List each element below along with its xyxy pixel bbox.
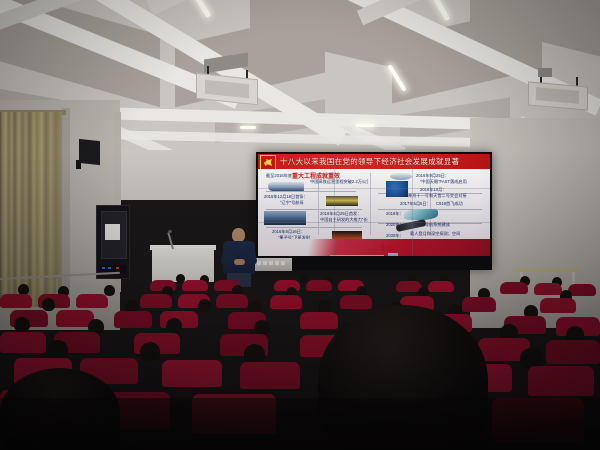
slide-entry-text: C919首飞成功: [436, 201, 463, 206]
auditorium-seat: [306, 280, 332, 291]
wall-speaker: [79, 139, 100, 165]
slide-entry-date: 2015年12月18日首条：: [264, 194, 308, 199]
auditorium-seat: [540, 298, 576, 313]
slide-entry-text: “辽宁”号航母: [280, 200, 304, 205]
slide-thumbnail-aircraft: [404, 209, 438, 220]
auditorium-seat: [0, 294, 32, 308]
ceiling-light: [187, 0, 211, 18]
audience-head: [254, 320, 270, 335]
auditorium-seat: [546, 340, 600, 364]
auditorium-seat: [534, 283, 562, 295]
auditorium-photo: 十八大以来我国在党的领导下经济社会发展成就显著 重大工程成就重效 截至2016年…: [0, 0, 600, 450]
ceiling-light: [426, 0, 450, 21]
communist-party-emblem-icon: [260, 155, 276, 170]
slide-body: 重大工程成就重效 截至2016年底： 中国高铁运营里程突破2.2万公里，占世界高…: [258, 169, 490, 256]
slide-entry-text: “中国天眼”FAST落成启用: [420, 179, 467, 184]
ceiling-light: [240, 126, 256, 129]
slide-title-bar: 十八大以来我国在党的领导下经济社会发展成就显著: [258, 154, 490, 169]
auditorium-seat: [140, 294, 172, 308]
auditorium-seat: [182, 280, 208, 291]
audience-head: [104, 285, 115, 296]
auditorium-seat: [340, 295, 372, 309]
slide-thumbnail-satellite: [326, 196, 358, 206]
auditorium-seat: [568, 284, 596, 296]
av-equipment-rack[interactable]: [96, 205, 130, 279]
slide-thumbnail-skyline: [330, 255, 384, 256]
audience-head: [140, 342, 160, 361]
presentation-slide: 十八大以来我国在党的领导下经济社会发展成就显著 重大工程成就重效 截至2016年…: [258, 154, 490, 256]
audience-head: [166, 318, 182, 333]
auditorium-seat: [216, 294, 248, 308]
presenter-speaker: [222, 228, 256, 286]
presenter-head: [232, 228, 245, 242]
slide-thumbnail-fast-telescope: [390, 173, 412, 180]
auditorium-seat: [114, 311, 152, 328]
slide-thumbnail-tower: [388, 253, 398, 256]
slide-entry-date: 2016年8月16日：: [272, 229, 305, 234]
microphone-head-icon: [168, 230, 172, 233]
slide-footer-banner: [258, 239, 490, 256]
auditorium-seat: [162, 360, 222, 387]
audience-head: [42, 298, 55, 311]
wall-pillar: [62, 108, 70, 308]
ceiling-light: [356, 124, 374, 127]
status-led: [108, 267, 111, 269]
led-video-wall[interactable]: 十八大以来我国在党的领导下经济社会发展成就显著 重大工程成就重效 截至2016年…: [256, 152, 492, 270]
auditorium-seat: [300, 312, 338, 329]
side-table: [516, 268, 580, 272]
auditorium-seat: [0, 332, 46, 353]
auditorium-seat: [428, 281, 454, 292]
audience-head: [198, 299, 211, 312]
status-led: [102, 267, 105, 269]
slide-thumbnail-earth: [386, 181, 408, 197]
slide-entry-date: 2030年：: [386, 233, 404, 238]
slide-entry-date: 2018年：: [386, 211, 404, 216]
slide-entry-date: 截至2016年底：: [266, 173, 296, 178]
auditorium-seat: [240, 362, 300, 389]
slide-entry-text: 神舟十一号和天宫二号交会对接: [408, 193, 467, 198]
auditorium-seat: [76, 294, 108, 308]
auditorium-seat: [528, 366, 594, 396]
audience-head: [14, 317, 30, 332]
rack-paper-sign: [105, 224, 120, 240]
slide-entry-date: 2017年5月5日：: [400, 201, 431, 206]
auditorium-seat: [462, 297, 496, 312]
slide-entry-date: 2016年6月25日首发：: [320, 211, 361, 216]
presenter-hands: [234, 259, 245, 265]
foreground-shadow: [0, 398, 600, 450]
slide-entry-date: 2016年9月25日：: [416, 173, 449, 178]
slide-title: 十八大以来我国在党的领导下经济社会发展成就显著: [280, 155, 486, 168]
auditorium-seat: [270, 295, 302, 309]
auditorium-seat: [500, 282, 528, 294]
slide-thumbnail-train: [268, 182, 304, 191]
slide-future-label: 未来：……: [380, 243, 415, 253]
audience-head: [48, 340, 68, 359]
slide-entry-text: 中国高铁运营里程突破2.2万公里，占世界高铁总里程的六成以上: [310, 179, 368, 184]
status-led: [116, 267, 119, 269]
audience-head: [244, 344, 265, 364]
slide-entry-text: 载人登月和深空探测；空间站全面建成运营: [410, 231, 460, 236]
